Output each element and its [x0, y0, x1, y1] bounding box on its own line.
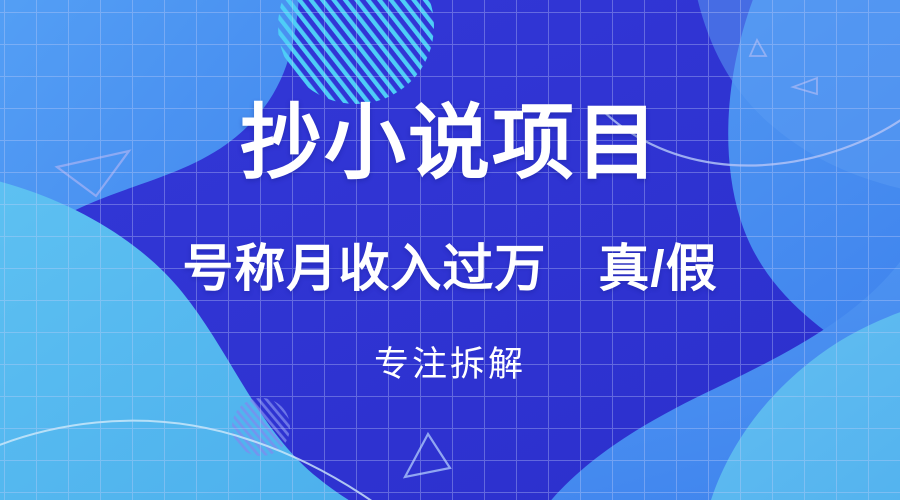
- poster-canvas: 抄小说项目 号称月收入过万 真/假 专注拆解: [0, 0, 900, 500]
- background-decoration-layer: [0, 0, 900, 500]
